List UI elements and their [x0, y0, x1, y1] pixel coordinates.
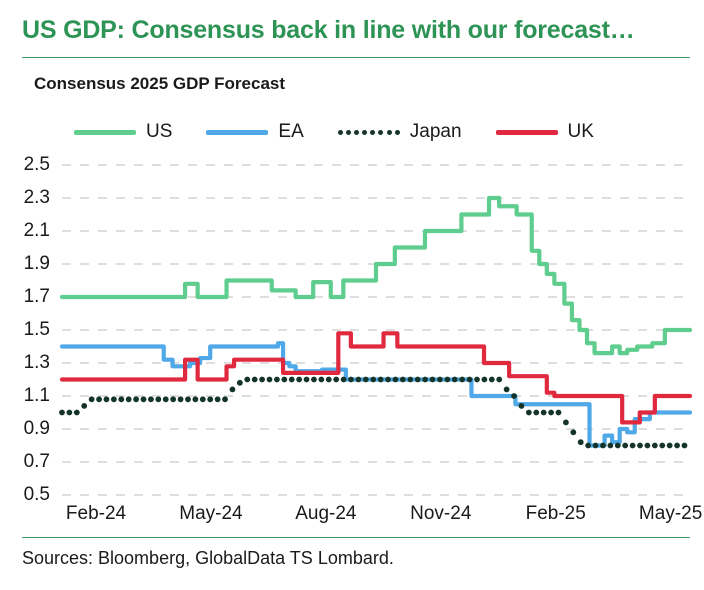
x-tick-label: Aug-24 [295, 503, 356, 525]
x-tick-label: Feb-24 [66, 503, 126, 525]
chart-page: US GDP: Consensus back in line with our … [0, 0, 704, 590]
x-tick-label: May-24 [179, 503, 242, 525]
plot-area: 2.52.32.11.91.71.51.31.10.90.70.5 Feb-24… [0, 0, 704, 590]
axis-divider [22, 537, 690, 538]
x-axis-labels: Feb-24May-24Aug-24Nov-24Feb-25May-25 [0, 0, 704, 590]
x-tick-label: Nov-24 [410, 503, 471, 525]
x-tick-label: Feb-25 [526, 503, 586, 525]
x-tick-label: May-25 [639, 503, 702, 525]
sources-note: Sources: Bloomberg, GlobalData TS Lombar… [22, 548, 394, 569]
